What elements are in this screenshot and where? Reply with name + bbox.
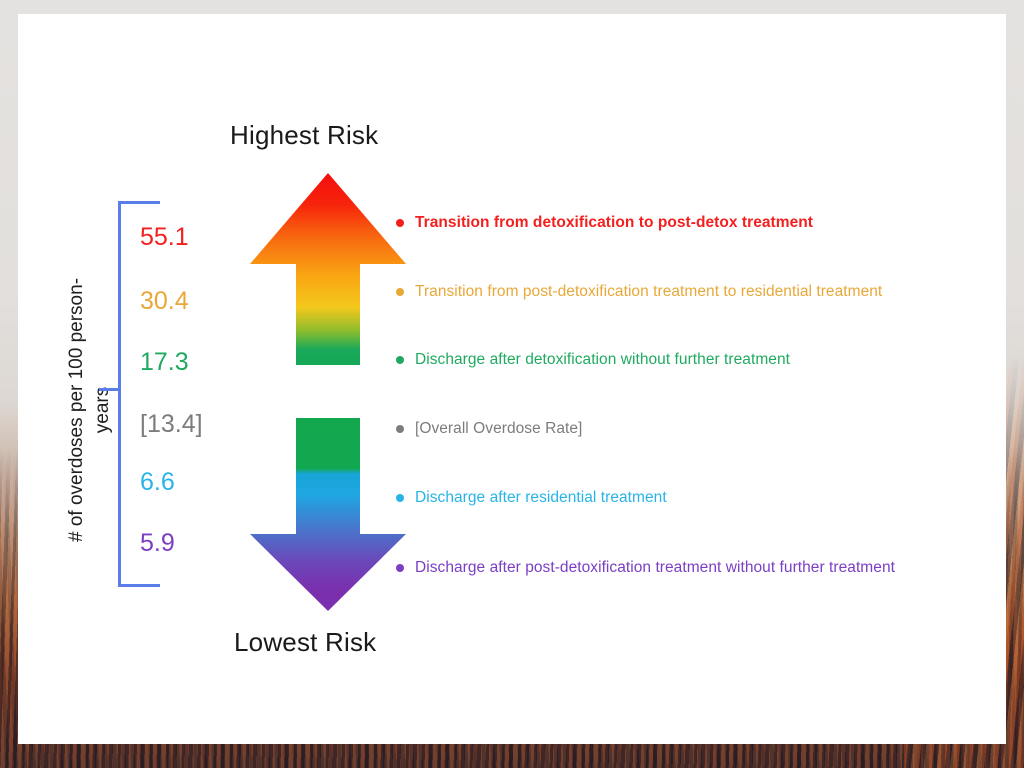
- value-label: [13.4]: [140, 410, 240, 439]
- bracket-midpoint-tick: [99, 388, 120, 391]
- value-label: 30.4: [140, 287, 240, 316]
- y-axis-label: # of overdoses per 100 person-years: [64, 270, 116, 550]
- bullet-icon: [396, 564, 404, 572]
- bullet-icon: [396, 219, 404, 227]
- down-arrow-shape: [250, 418, 406, 611]
- value-label: 6.6: [140, 468, 240, 497]
- legend-item-label: Discharge after residential treatment: [415, 489, 667, 507]
- value-label: 17.3: [140, 348, 240, 377]
- up-arrow: [248, 171, 408, 367]
- up-arrow-shape: [250, 173, 406, 365]
- legend-item: Discharge after detoxification without f…: [396, 351, 790, 369]
- legend-item: [Overall Overdose Rate]: [396, 420, 582, 438]
- down-arrow: [248, 416, 408, 613]
- value-label: 5.9: [140, 529, 240, 558]
- y-axis-label-text: # of overdoses per 100 person-years: [64, 270, 116, 550]
- value-label: 55.1: [140, 223, 240, 252]
- bullet-icon: [396, 288, 404, 296]
- legend-item-label: Transition from detoxification to post-d…: [415, 214, 813, 232]
- lowest-risk-heading: Lowest Risk: [234, 627, 376, 658]
- legend-item: Discharge after post-detoxification trea…: [396, 559, 895, 577]
- legend-item-label: Discharge after detoxification without f…: [415, 351, 790, 369]
- legend-item: Discharge after residential treatment: [396, 489, 667, 507]
- bullet-icon: [396, 494, 404, 502]
- highest-risk-heading: Highest Risk: [230, 120, 378, 151]
- bullet-icon: [396, 425, 404, 433]
- legend-item: Transition from detoxification to post-d…: [396, 214, 813, 232]
- bullet-icon: [396, 356, 404, 364]
- legend-item: Transition from post-detoxification trea…: [396, 283, 882, 301]
- legend-item-label: Transition from post-detoxification trea…: [415, 283, 882, 301]
- legend-item-label: Discharge after post-detoxification trea…: [415, 559, 895, 577]
- slide-canvas: Highest Risk Lowest Risk # of overdoses …: [18, 14, 1006, 744]
- legend-item-label: [Overall Overdose Rate]: [415, 420, 582, 438]
